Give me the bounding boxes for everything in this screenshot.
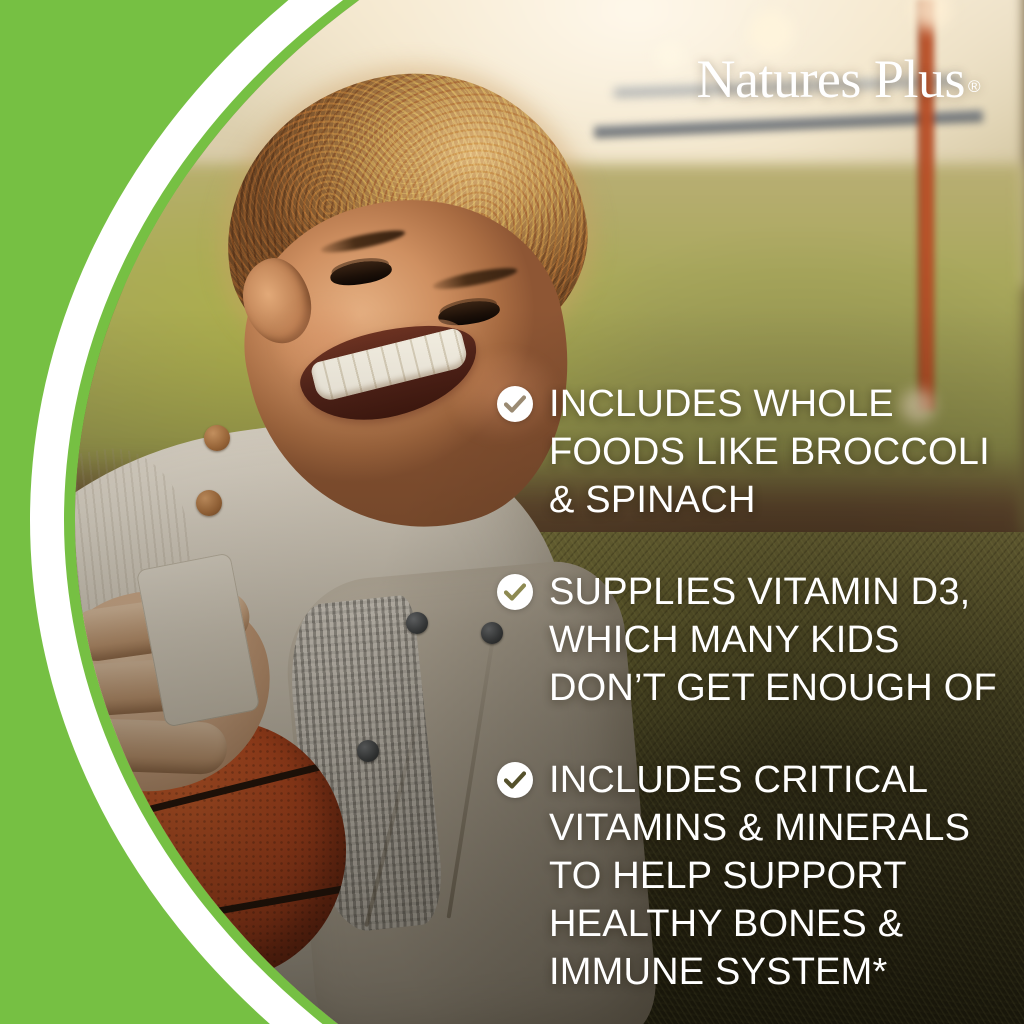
registered-trademark-icon: ® <box>968 78 980 95</box>
brand-logo: Natures Plus ® <box>696 52 980 106</box>
promo-banner: Natures Plus ® INCLUDES WHOLE FOODS LIKE… <box>0 0 1024 1024</box>
benefit-item: INCLUDES WHOLE FOODS LIKE BROCCOLI & SPI… <box>497 380 997 524</box>
check-circle-icon <box>497 574 533 610</box>
benefit-list: INCLUDES WHOLE FOODS LIKE BROCCOLI & SPI… <box>497 380 997 996</box>
benefit-text: SUPPLIES VITAMIN D3, WHICH MANY KIDS DON… <box>549 568 997 712</box>
benefit-item: INCLUDES CRITICAL VITAMINS & MINERALS TO… <box>497 756 997 996</box>
benefit-text: INCLUDES CRITICAL VITAMINS & MINERALS TO… <box>549 756 970 996</box>
benefit-text: INCLUDES WHOLE FOODS LIKE BROCCOLI & SPI… <box>549 380 990 524</box>
check-circle-icon <box>497 762 533 798</box>
brand-logo-text: Natures Plus <box>696 52 964 106</box>
benefit-item: SUPPLIES VITAMIN D3, WHICH MANY KIDS DON… <box>497 568 997 712</box>
check-circle-icon <box>497 386 533 422</box>
